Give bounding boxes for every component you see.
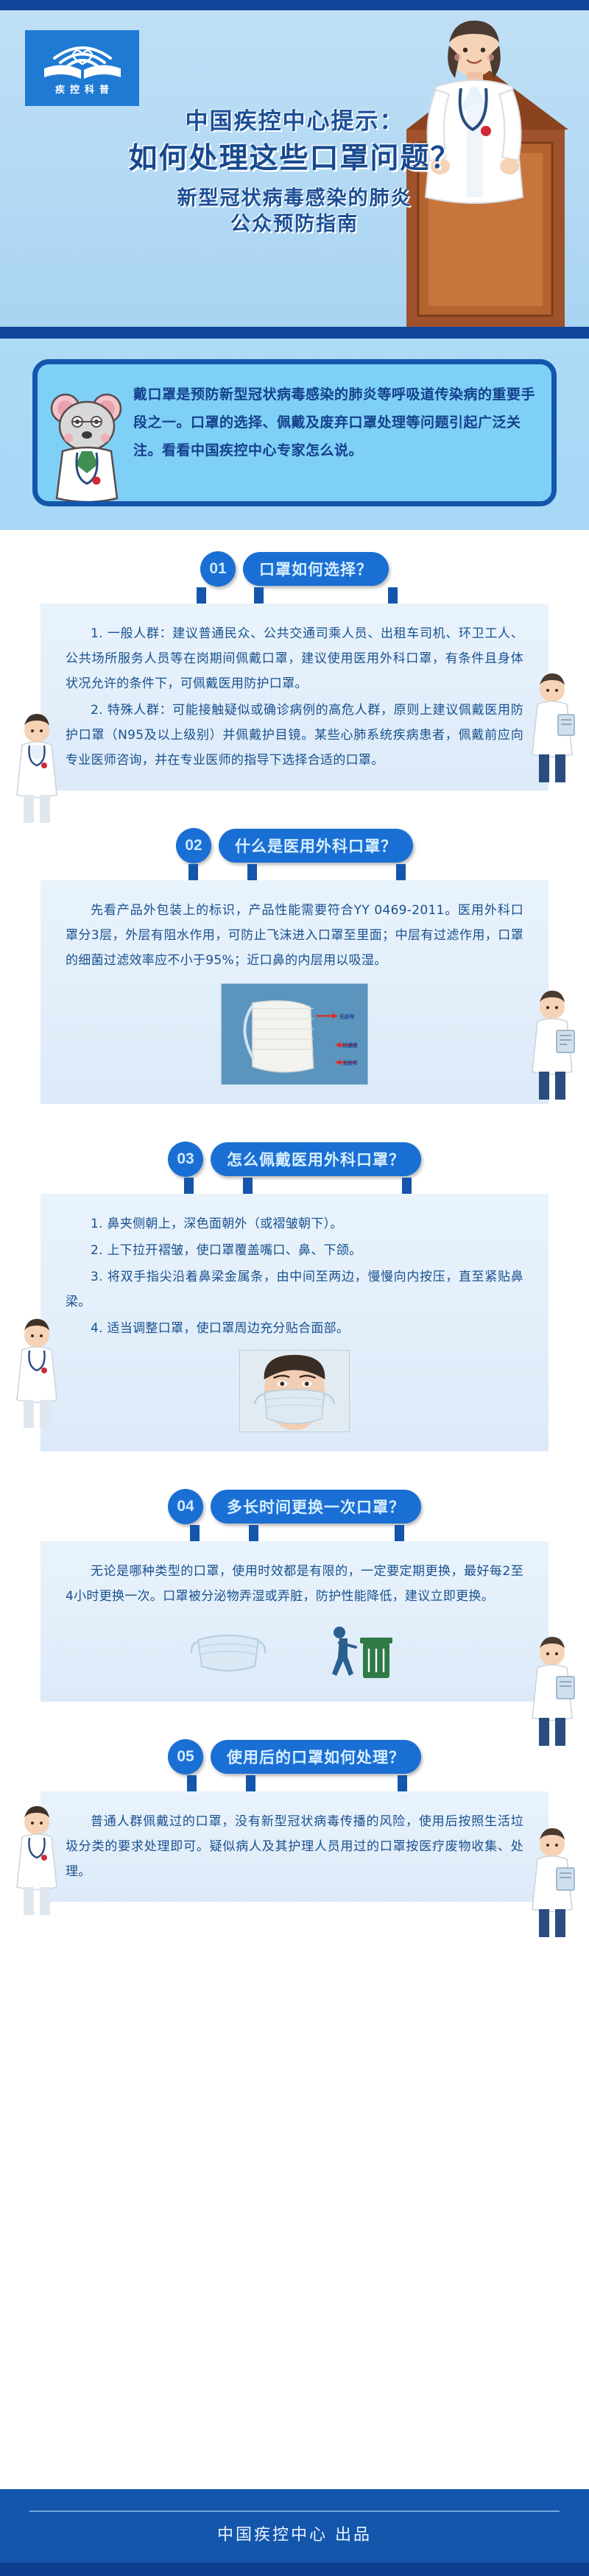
footer-bar: 中国疾控中心 出品 [0,2489,589,2576]
surgical-mask-photo: 无纺布 过滤层 无纺布 [221,983,368,1085]
section-number-02: 02 [176,828,211,863]
section-number-04: 04 [168,1489,203,1524]
section-header-01: 01 口罩如何选择？ [0,549,589,589]
section-03-paragraph-4: 4. 适当调整口罩，使口罩周边充分贴合面部。 [66,1316,523,1341]
side-doctor-right-05 [520,1828,585,1939]
photo-label-2: 无纺布 [342,1059,358,1066]
section-card-04: 无论是哪种类型的口罩，使用时效都是有限的，一定要定期更换，最好每2至4小时更换一… [40,1541,549,1702]
trash-disposal-icon [320,1621,401,1684]
face-wearing-mask-image [240,1351,349,1432]
section-title-04: 多长时间更换一次口罩？ [211,1490,421,1524]
section-title-01: 口罩如何选择？ [243,552,389,586]
section-04-icon-row [66,1621,523,1684]
content-body: 01 口罩如何选择？ 1. 一般人群：建议普通民众、公共交通司乘人员、出租车司机… [0,530,589,1902]
mouse-mascot-icon [48,383,130,501]
side-doctor-right-02 [520,991,585,1101]
footer-inner: 中国疾控中心 出品 [29,2510,560,2555]
section-number-01: 01 [200,551,236,587]
section-card-03: 1. 鼻夹侧朝上，深色面朝外（或褶皱朝下）。 2. 上下拉开褶皱，使口罩覆盖嘴口… [40,1194,549,1451]
header-eyebrow: 中国疾控中心提示： [0,107,589,136]
header-headline: 如何处理这些口罩问题？ [0,141,589,177]
infographic-page: 疾控科普 [0,0,589,2576]
header-subtitle-2: 公众预防指南 [0,211,589,237]
section-card-01: 1. 一般人群：建议普通民众、公共交通司乘人员、出租车司机、环卫工人、公共场所服… [40,604,549,790]
section-legs-03 [0,1179,589,1194]
masked-face-photo [239,1350,350,1432]
section-05-paragraph-1: 普通人群佩戴过的口罩，没有新型冠状病毒传播的风险，使用后按照生活垃圾分类的要求处… [66,1809,523,1884]
section-03-paragraph-2: 2. 上下拉开褶皱，使口罩覆盖嘴口、鼻、下颌。 [66,1238,523,1263]
footer-bottom-accent [0,2563,589,2576]
side-doctor-left-05 [4,1806,69,1917]
mask-layers-diagram: 无纺布 过滤层 无纺布 [222,984,367,1084]
cdc-logo: 疾控科普 [25,30,139,106]
top-accent-bar [0,0,589,10]
section-header-02: 02 什么是医用外科口罩？ [0,826,589,866]
section-01-paragraph-1: 1. 一般人群：建议普通民众、公共交通司乘人员、出租车司机、环卫工人、公共场所服… [66,621,523,696]
photo-label-0: 无纺布 [339,1013,355,1019]
header-subtitle-1: 新型冠状病毒感染的肺炎 [0,185,589,211]
header-divider-bar [0,327,589,339]
section-01-paragraph-2: 2. 特殊人群：可能接触疑似或确诊病例的高危人群，原则上建议佩戴医用防护口罩（N… [66,698,523,773]
section-card-05: 普通人群佩戴过的口罩，没有新型冠状病毒传播的风险，使用后按照生活垃圾分类的要求处… [40,1791,549,1902]
logo-caption: 疾控科普 [50,82,114,96]
section-card-02: 先看产品外包装上的标识，产品性能需要符合YY 0469-2011。医用外科口罩分… [40,880,549,1104]
section-03-paragraph-1: 1. 鼻夹侧朝上，深色面朝外（或褶皱朝下）。 [66,1211,523,1236]
section-title-02: 什么是医用外科口罩？ [219,829,413,863]
section-number-03: 03 [168,1142,203,1177]
intro-text: 戴口罩是预防新型冠状病毒感染的肺炎等呼吸道传染病的重要手段之一。口罩的选择、佩戴… [133,381,540,464]
side-doctor-right-04 [520,1637,585,1747]
section-number-05: 05 [168,1739,203,1774]
section-title-05: 使用后的口罩如何处理？ [211,1740,421,1774]
section-title-03: 怎么佩戴医用外科口罩？ [211,1142,421,1176]
section-legs-02 [0,866,589,880]
header-banner: 疾控科普 [0,10,589,327]
section-legs-01 [0,589,589,604]
section-02-paragraph-1: 先看产品外包装上的标识，产品性能需要符合YY 0469-2011。医用外科口罩分… [66,898,523,973]
section-legs-05 [0,1777,589,1791]
section-legs-04 [0,1526,589,1541]
section-header-03: 03 怎么佩戴医用外科口罩？ [0,1139,589,1179]
section-03-paragraph-3: 3. 将双手指尖沿着鼻梁金属条，由中间至两边，慢慢向内按压，直至紧贴鼻梁。 [66,1264,523,1314]
header-title-group: 中国疾控中心提示： 如何处理这些口罩问题？ 新型冠状病毒感染的肺炎 公众预防指南 [0,107,589,237]
side-doctor-left-01 [4,714,69,824]
intro-card: 戴口罩是预防新型冠状病毒感染的肺炎等呼吸道传染病的重要手段之一。口罩的选择、佩戴… [32,359,557,506]
photo-label-1: 过滤层 [342,1042,358,1049]
section-header-05: 05 使用后的口罩如何处理？ [0,1737,589,1777]
side-doctor-right-01 [520,673,585,784]
intro-section: 戴口罩是预防新型冠状病毒感染的肺炎等呼吸道传染病的重要手段之一。口罩的选择、佩戴… [0,339,589,530]
logo-book-icon [38,36,127,80]
side-doctor-left-03 [4,1319,69,1429]
folded-mask-icon [188,1621,269,1684]
section-04-paragraph-1: 无论是哪种类型的口罩，使用时效都是有限的，一定要定期更换，最好每2至4小时更换一… [66,1559,523,1609]
section-header-04: 04 多长时间更换一次口罩？ [0,1487,589,1526]
footer-text: 中国疾控中心 出品 [217,2522,372,2545]
